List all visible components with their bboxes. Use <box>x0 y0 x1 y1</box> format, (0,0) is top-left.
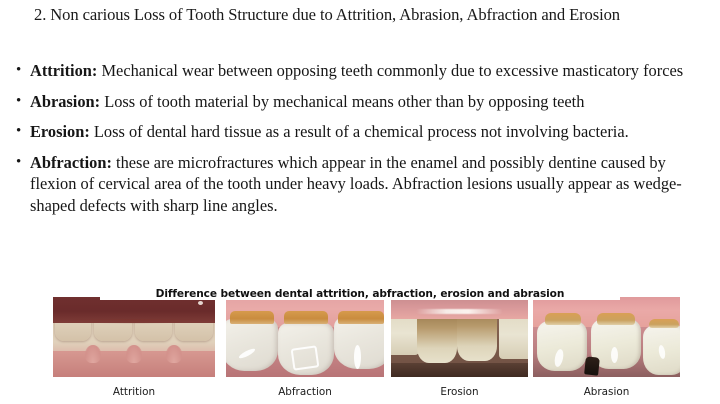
figure-panel-erosion: Erosion <box>391 297 528 398</box>
figure-header: Difference between dental attrition, abf… <box>100 288 620 300</box>
figure-block: Difference between dental attrition, abf… <box>0 288 720 404</box>
list-item: • Attrition: Mechanical wear between opp… <box>12 60 712 82</box>
bullet-list: • Attrition: Mechanical wear between opp… <box>12 60 712 225</box>
list-item: • Erosion: Loss of dental hard tissue as… <box>12 121 712 143</box>
clinical-photo-abrasion <box>533 297 680 377</box>
figure-panel-abrasion: Abrasion <box>533 297 680 398</box>
clinical-photo-abfraction <box>226 297 384 377</box>
figure-panels: Attrition Abfraction <box>0 297 720 404</box>
clinical-photo-erosion <box>391 297 528 377</box>
bullet-body: Mechanical wear between opposing teeth c… <box>97 61 683 80</box>
bullet-body: these are microfractures which appear in… <box>30 153 682 215</box>
figure-panel-abfraction: Abfraction <box>226 297 384 398</box>
figure-panel-attrition: Attrition <box>53 297 215 398</box>
slide-canvas: 2. Non carious Loss of Tooth Structure d… <box>0 0 720 404</box>
panel-caption: Erosion <box>391 386 528 398</box>
bullet-term: Attrition: <box>30 61 97 80</box>
bullet-term: Abrasion: <box>30 92 100 111</box>
bullet-term: Abfraction: <box>30 153 112 172</box>
bullet-body: Loss of dental hard tissue as a result o… <box>90 122 629 141</box>
panel-caption: Attrition <box>53 386 215 398</box>
list-item: • Abrasion: Loss of tooth material by me… <box>12 91 712 113</box>
list-item: • Abfraction: these are microfractures w… <box>12 152 712 217</box>
bullet-dot-icon: • <box>16 121 21 143</box>
bullet-dot-icon: • <box>16 91 21 113</box>
panel-caption: Abrasion <box>533 386 680 398</box>
bullet-dot-icon: • <box>16 60 21 82</box>
bullet-term: Erosion: <box>30 122 90 141</box>
page-title: 2. Non carious Loss of Tooth Structure d… <box>18 4 704 25</box>
bullet-dot-icon: • <box>16 152 21 174</box>
clinical-photo-attrition <box>53 297 215 377</box>
bullet-body: Loss of tooth material by mechanical mea… <box>100 92 584 111</box>
panel-caption: Abfraction <box>226 386 384 398</box>
